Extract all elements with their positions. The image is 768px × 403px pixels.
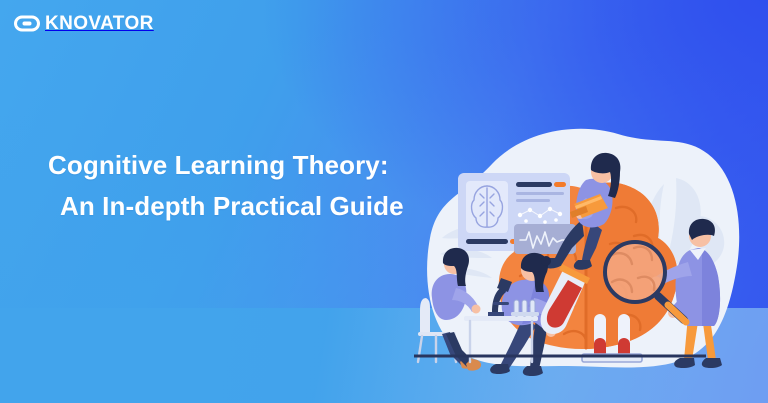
banner: KNOVATOR Cognitive Learning Theory: An I… (0, 0, 768, 403)
page-title-line-1: Cognitive Learning Theory: (48, 145, 404, 185)
chain-link-icon (14, 15, 40, 32)
page-title-line-2: An In-depth Practical Guide (48, 186, 404, 226)
brand-name: KNOVATOR (45, 14, 154, 33)
brain-scan-panel (458, 173, 576, 254)
desk-test-tubes (511, 300, 539, 316)
hero-illustration (396, 120, 768, 403)
brand-logo[interactable]: KNOVATOR (14, 14, 154, 33)
page-title: Cognitive Learning Theory: An In-depth P… (48, 145, 404, 226)
